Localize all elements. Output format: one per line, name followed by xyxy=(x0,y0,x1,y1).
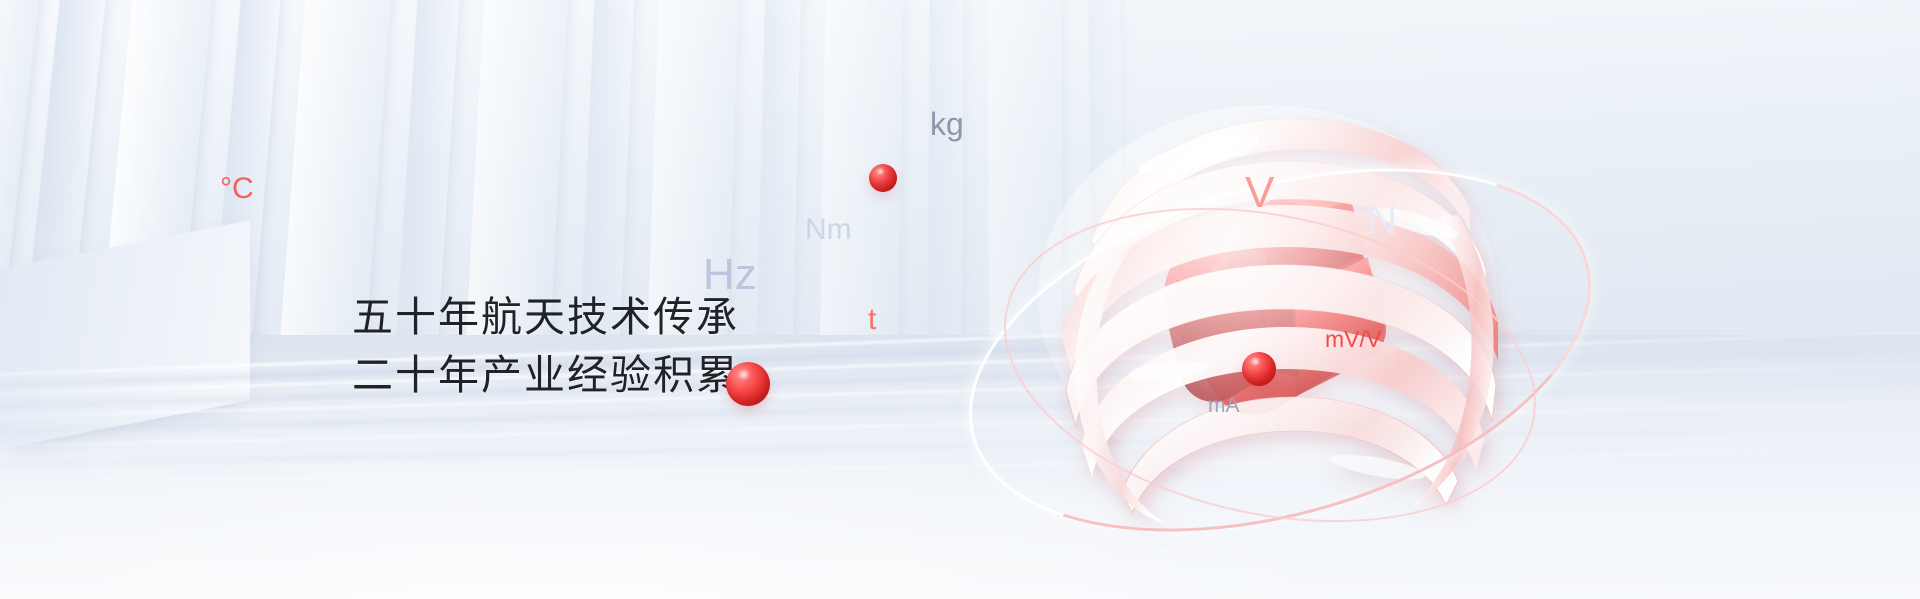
unit-volt: V xyxy=(1245,168,1274,218)
headline: 五十年航天技术传承 二十年产业经验积累 xyxy=(352,288,739,404)
headline-line-2: 二十年产业经验积累 xyxy=(352,346,739,404)
unit-kilogram: kg xyxy=(930,106,964,143)
unit-celsius: °C xyxy=(220,172,254,206)
unit-millivolt-per-volt: mV/V xyxy=(1325,326,1381,353)
unit-hertz: Hz xyxy=(703,250,757,300)
headline-line-1: 五十年航天技术传承 xyxy=(352,288,739,346)
unit-newton: N xyxy=(1367,196,1397,244)
accent-sphere-right xyxy=(1242,352,1276,386)
floor-streak xyxy=(0,443,1920,487)
unit-tonne: t xyxy=(868,303,876,337)
accent-sphere-bottom xyxy=(726,362,770,406)
floor-light-streaks xyxy=(0,330,1920,530)
accent-sphere-top xyxy=(869,164,897,192)
unit-newton-metre: Nm xyxy=(805,213,852,247)
hero-banner: 五十年航天技术传承 二十年产业经验积累 xyxy=(0,0,1920,599)
unit-milliamp: mA xyxy=(1208,394,1240,418)
